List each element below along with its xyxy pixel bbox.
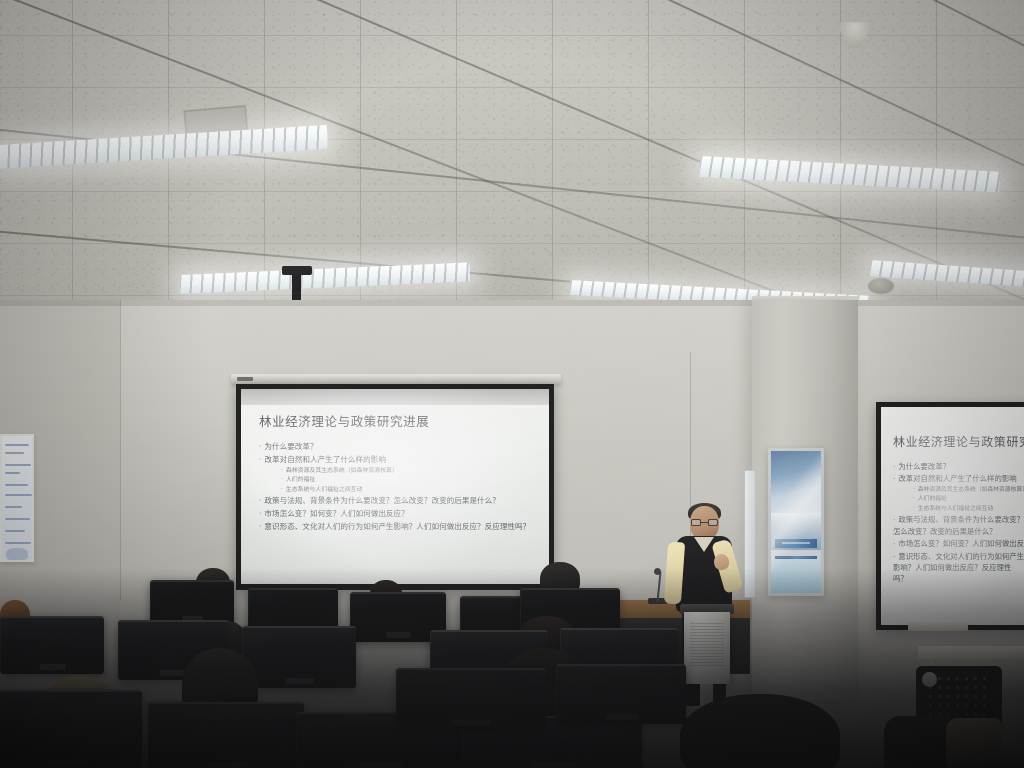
second-presentation-slide: 林业经济理论与政策研究进展 为什么要改革？ 改革对自然和人产生了什么样的影响 森… [881,407,1024,625]
projection-screen: 林业经济理论与政策研究进展 为什么要改革？ 改革对自然和人产生了什么样的影响 森… [236,384,554,590]
student-monitor [148,702,304,768]
slide-bullet: 政策与法规、背景条件为什么要改变？怎么改变？改变的后果是什么？ [259,495,535,507]
slide-bullet-list: 为什么要改革？ 改革对自然和人产生了什么样的影响 森林资源及其生态系统（如森林资… [259,441,535,533]
second-screen-surface: 林业经济理论与政策研究进展 为什么要改革？ 改革对自然和人产生了什么样的影响 森… [881,407,1024,625]
wall-seam [120,300,121,600]
slide-title: 林业经济理论与政策研究进展 [259,411,535,430]
framed-blue-poster [768,448,824,596]
slide-sub-bullet: 森林资源及其生态系统（如森林资源核算） [281,467,535,477]
second-slide-bullet-list: 为什么要改革？ 改革对自然和人产生了什么样的影响 森林资源及其生态系统（如森林资… [893,461,1024,585]
student-head [680,694,840,768]
slide-bullet: 政策与法规、背景条件为什么要改变？怎么改变？改变的后果是什么？ [893,514,1024,537]
smoke-detector-icon [868,278,894,294]
poster-glare [771,451,821,593]
slide-bullet: 意识形态、文化对人们的行为如何产生影响？人们如何做出反应？反应理性吗？ [893,551,1024,585]
student-monitor [0,616,104,674]
slide-bullet: 改革对自然和人产生了什么样的影响 [893,473,1024,484]
slide-sub-bullet: 人们的福祉 [913,495,1024,504]
glasses-icon [691,519,718,526]
side-desk [918,646,1024,659]
presentation-slide: 林业经济理论与政策研究进展 为什么要改革？ 改革对自然和人产生了什么样的影响 森… [241,389,549,584]
slide-bullet: 市场怎么变？如何变？人们如何做出反应？ [893,538,1024,549]
student-monitor [0,690,142,768]
screen-surface: 林业经济理论与政策研究进展 为什么要改革？ 改革对自然和人产生了什么样的影响 森… [241,389,549,584]
slide-bullet: 市场怎么变？如何变？人们如何做出反应？ [259,508,535,520]
podium-grill [690,622,724,666]
slide-bullet: 改革对自然和人产生了什么样的影响 [259,454,535,466]
slide-sub-bullet: 生态系统与人们福祉之间互动 [913,505,1024,514]
white-podium [684,612,730,684]
slide-sub-bullet: 森林资源及其生态系统（如森林资源核算） [913,486,1024,495]
draped-tan-coat [946,718,1002,768]
wall-shelf [908,622,968,631]
wall-shadow [0,300,1024,306]
student-monitor [556,664,686,724]
slide-sub-bullet: 生态系统与人们福祉之间互动 [281,486,535,496]
slide-bullet: 为什么要改革？ [259,441,535,453]
lecture-hall-photo: 林业经济理论与政策研究进展 为什么要改革？ 改革对自然和人产生了什么样的影响 森… [0,0,1024,768]
second-slide-title: 林业经济理论与政策研究进展 [893,433,1024,450]
microphone-head-icon [654,568,661,575]
slide-bullet: 为什么要改革？ [893,461,1024,472]
slide-sub-bullet: 人们的福祉 [281,476,535,486]
wall-whiteboard-strip [744,470,756,598]
projector-mount-plate [282,266,312,275]
student-monitor [396,668,546,730]
slide-bullet: 意识形态、文化对人们的行为如何产生影响？人们如何做出反应？反应理性吗？ [259,521,535,533]
notice-board-poster [0,434,34,562]
chair-adjust-knob [922,672,937,687]
second-projection-screen: 林业经济理论与政策研究进展 为什么要改革？ 改革对自然和人产生了什么样的影响 森… [876,402,1024,630]
student-monitor [242,626,356,688]
